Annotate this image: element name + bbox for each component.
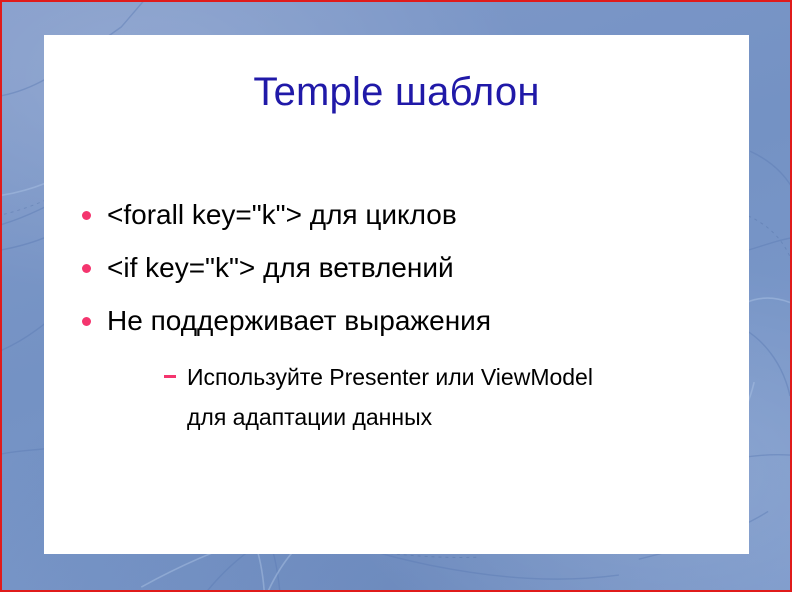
- bullet-dash-icon: [164, 375, 176, 378]
- bullet-item-label: <if key="k"> для ветвлений: [107, 252, 454, 283]
- slide-title: Temple шаблон: [44, 69, 749, 115]
- sub-bullet-item-presenter: Используйте Presenter или ViewModel: [44, 357, 749, 397]
- bullet-item-no-expressions: Не поддерживает выражения: [44, 304, 749, 338]
- bullet-item-label: <forall key="k"> для циклов: [107, 199, 457, 230]
- sub-bullet-item-label: Используйте Presenter или ViewModel: [187, 364, 593, 390]
- bullet-item-forall: <forall key="k"> для циклов: [44, 198, 749, 232]
- bullet-dot-icon: [82, 264, 91, 273]
- sub-bullet-item-label: для адаптации данных: [187, 404, 432, 430]
- bullet-dot-icon: [82, 317, 91, 326]
- bullet-item-if: <if key="k"> для ветвлений: [44, 251, 749, 285]
- slide-body-list: <forall key="k"> для циклов <if key="k">…: [44, 198, 749, 437]
- bullet-item-label: Не поддерживает выражения: [107, 305, 491, 336]
- slide-content-panel: Temple шаблон <forall key="k"> для цикло…: [44, 35, 749, 554]
- presentation-slide: Temple шаблон <forall key="k"> для цикло…: [0, 0, 792, 592]
- sub-bullet-item-continuation: для адаптации данных: [44, 397, 749, 437]
- bullet-dot-icon: [82, 211, 91, 220]
